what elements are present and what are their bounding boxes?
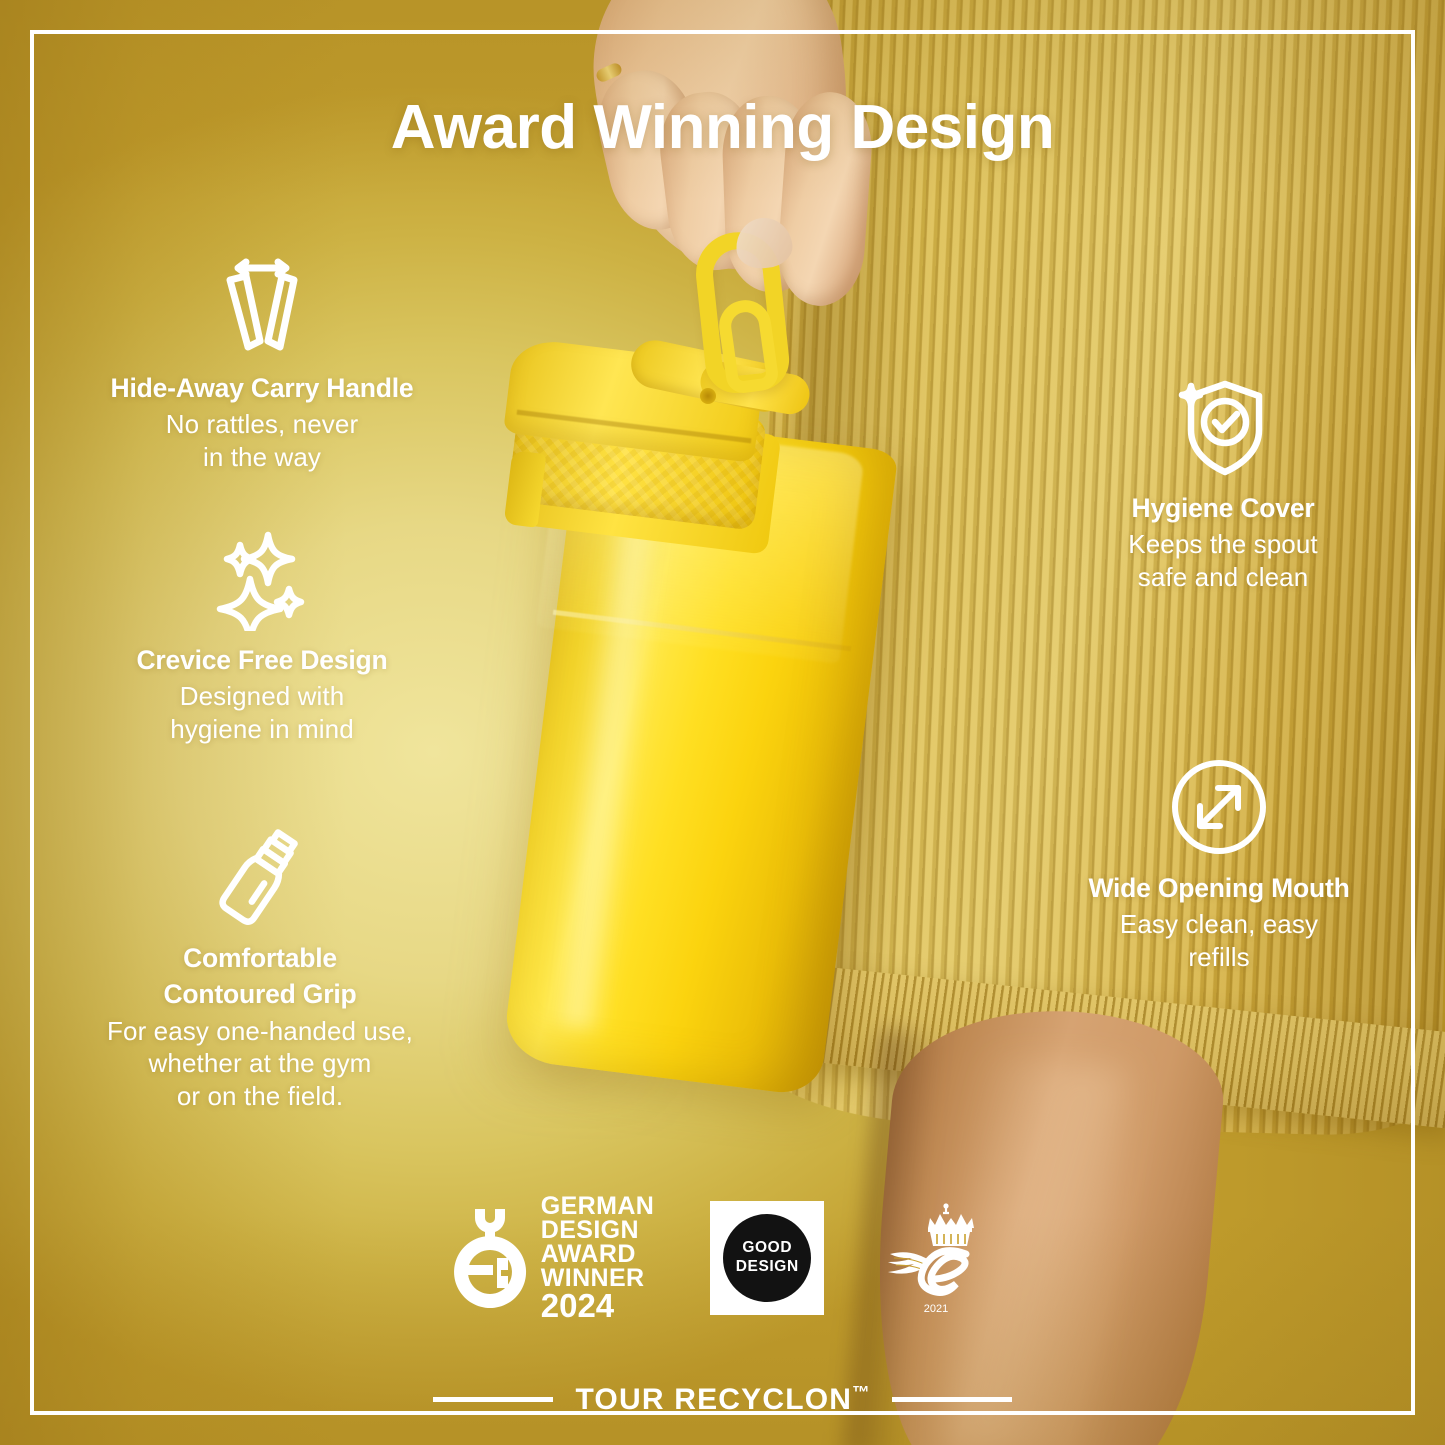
- german-design-award-mark: [453, 1206, 527, 1310]
- page-title: Award Winning Design: [0, 92, 1445, 163]
- shield-check-icon: [1013, 368, 1433, 486]
- good-design-mark: GOOD DESIGN: [723, 1214, 811, 1302]
- brand-name-text: TOUR RECYCLON: [575, 1383, 852, 1416]
- feature-title: Hygiene Cover: [1013, 492, 1433, 524]
- bottle-grip-icon: [40, 818, 480, 936]
- brand-name: TOUR RECYCLON™: [575, 1382, 869, 1417]
- feature-description-line1: For easy one-handed use,: [40, 1015, 480, 1048]
- feature-description-line1: No rattles, never: [52, 408, 472, 441]
- good-design-line-2: DESIGN: [736, 1258, 799, 1277]
- queens-award-year: 2021: [924, 1303, 948, 1315]
- feature-title: Hide-Away Carry Handle: [52, 372, 472, 404]
- brand-footer: TOUR RECYCLON™: [0, 1382, 1445, 1417]
- feature-description-line2: whether at the gym: [40, 1047, 480, 1080]
- feature-wide-opening-mouth: Wide Opening Mouth Easy clean, easy refi…: [1003, 748, 1435, 973]
- gda-line-3: AWARD: [541, 1242, 655, 1266]
- trademark-symbol: ™: [852, 1382, 869, 1402]
- expand-arrows-icon: [1003, 748, 1435, 866]
- folding-handle-icon: [52, 248, 472, 366]
- feature-hide-away-carry-handle: Hide-Away Carry Handle No rattles, never…: [52, 248, 472, 473]
- queens-award-mark: 2021: [880, 1198, 992, 1318]
- feature-title: Wide Opening Mouth: [1003, 872, 1435, 904]
- feature-description-line1: Designed with: [52, 680, 472, 713]
- feature-description-line1: Keeps the spout: [1013, 528, 1433, 561]
- footer-rule-right: [892, 1397, 1012, 1402]
- feature-hygiene-cover: Hygiene Cover Keeps the spout safe and c…: [1013, 368, 1433, 593]
- gda-line-1: GERMAN: [541, 1194, 655, 1218]
- feature-description-line2: hygiene in mind: [52, 713, 472, 746]
- feature-description-line3: or on the field.: [40, 1080, 480, 1113]
- feature-description-line2: safe and clean: [1013, 561, 1433, 594]
- feature-description-line2: refills: [1003, 941, 1435, 974]
- feature-crevice-free-design: Crevice Free Design Designed with hygien…: [52, 520, 472, 745]
- product-feature-graphic: Award Winning Design Hide-Away Carry Han…: [0, 0, 1445, 1445]
- german-design-award-badge: GERMAN DESIGN AWARD WINNER 2024: [453, 1194, 655, 1322]
- award-badges: GERMAN DESIGN AWARD WINNER 2024 GOOD DES…: [0, 1188, 1445, 1328]
- german-design-award-text: GERMAN DESIGN AWARD WINNER 2024: [541, 1194, 655, 1322]
- feature-title: Crevice Free Design: [52, 644, 472, 676]
- queens-award-badge: 2021: [880, 1198, 992, 1318]
- good-design-badge: GOOD DESIGN: [710, 1201, 824, 1315]
- feature-description-line1: Easy clean, easy: [1003, 908, 1435, 941]
- footer-rule-left: [433, 1397, 553, 1402]
- feature-title-line2: Contoured Grip: [40, 978, 480, 1010]
- feature-title-line1: Comfortable: [40, 942, 480, 974]
- gda-line-2: DESIGN: [541, 1218, 655, 1242]
- gda-year: 2024: [541, 1290, 655, 1322]
- good-design-line-1: GOOD: [742, 1239, 792, 1258]
- feature-description-line2: in the way: [52, 441, 472, 474]
- sparkle-icon: [52, 520, 472, 638]
- feature-comfortable-contoured-grip: Comfortable Contoured Grip For easy one-…: [40, 818, 480, 1112]
